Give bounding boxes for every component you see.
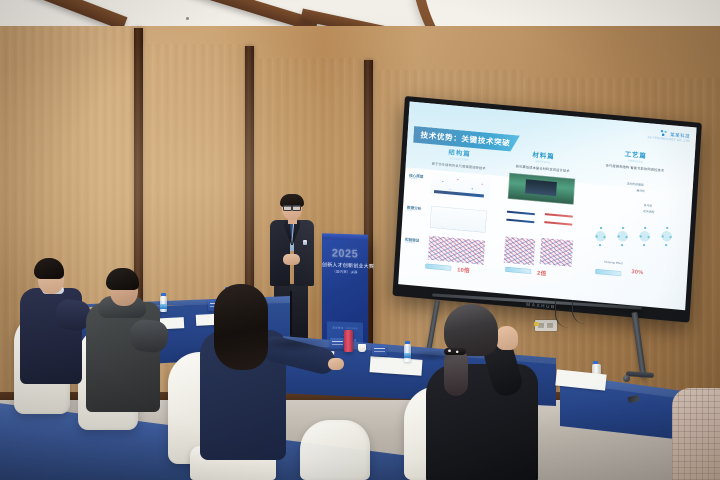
slide-figure-c3-m3 — [635, 222, 655, 250]
slide-figure-c2-r3a — [504, 237, 536, 266]
slide-annotation-c3-c: 多尺度 — [643, 203, 652, 208]
slide-figure-c2-r1 — [508, 173, 575, 205]
bottle-cap-3 — [405, 341, 409, 344]
attendee-4-ponytail — [444, 350, 468, 396]
presentation-display[interactable]: MAXHUB 某某科技 XX TECHNOLOGY CO.,LTD 技术优势：关… — [392, 96, 701, 323]
attendee-2-hair — [106, 268, 139, 290]
attendee-5-arm — [672, 388, 720, 480]
slide-metric-3: 30% — [631, 269, 643, 276]
bottle-label-3 — [404, 353, 411, 358]
slide-annotation-c3-d: 定向调控 — [643, 209, 654, 214]
bottle-cap-4 — [593, 361, 597, 364]
slide-figure-c1-r2 — [430, 206, 487, 233]
attendee-3 — [196, 284, 316, 474]
slide-row-label-1: 核心原理 Principle — [409, 174, 424, 183]
slide-metric-bar-1 — [425, 263, 451, 270]
attendee-3-hand — [328, 358, 344, 370]
slide-figure-c1-r3 — [428, 236, 485, 265]
podium-top-edge — [322, 233, 368, 241]
slide-row-label-2: 数据分析 Data — [407, 206, 422, 215]
slide-figure-c3-m4 — [657, 222, 677, 250]
ceiling-downlight-1 — [186, 17, 189, 20]
attendee-2-torso — [86, 302, 160, 412]
water-bottle-3 — [404, 344, 411, 362]
display-stand-caster-right — [623, 375, 630, 382]
nametent-4 — [372, 345, 387, 356]
podium-event-subtitle: （国内赛）决赛 — [322, 268, 368, 275]
slide-bar-c2b — [545, 213, 573, 218]
slide-bar-c2c — [506, 219, 534, 224]
attendee-2 — [84, 268, 174, 428]
slide-metric-bar-3 — [595, 269, 621, 276]
slide-row-label-3: 实验验证 Validation — [405, 238, 420, 247]
presenter-glasses-icon — [283, 205, 301, 209]
slide-metric-1: 10倍 — [457, 265, 470, 274]
hair-tie-accessory — [444, 348, 466, 355]
presenter-badge — [303, 240, 307, 245]
presenter-clasped-hands — [283, 254, 300, 265]
slide-metric-bar-2 — [505, 267, 531, 274]
nametent-3 — [330, 338, 345, 349]
slide-canvas: 某某科技 XX TECHNOLOGY CO.,LTD 技术优势：关键技术突破 结… — [398, 101, 696, 310]
attendee-2-arm — [128, 318, 169, 354]
attendee-3-hair — [214, 284, 268, 370]
paper-cup — [358, 344, 366, 352]
slide-annotation-c3-b: 差分析 — [636, 188, 645, 193]
attendee-1-hair — [34, 258, 64, 279]
slide-metric-2: 2倍 — [537, 269, 547, 278]
thermos-bottle — [344, 330, 353, 352]
slide-bar-c2d — [544, 221, 572, 226]
slide-annotation-c3-e: Sintering Effect — [604, 260, 623, 266]
slide-figure-c3-m2 — [613, 222, 633, 250]
attendee-5 — [672, 388, 720, 480]
slide-figure-c2-r3b — [540, 238, 574, 267]
podium-year: 2025 — [322, 247, 368, 261]
slide-bar-c2a — [507, 211, 535, 216]
slide-figure-c3-m1 — [591, 222, 611, 250]
attendee-4-hand — [496, 326, 518, 350]
attendee-4 — [420, 306, 570, 480]
conference-room-photo: 强电 弱电 MAXHUB 某某科技 XX TECHNOLOGY CO.,LTD … — [0, 0, 720, 480]
